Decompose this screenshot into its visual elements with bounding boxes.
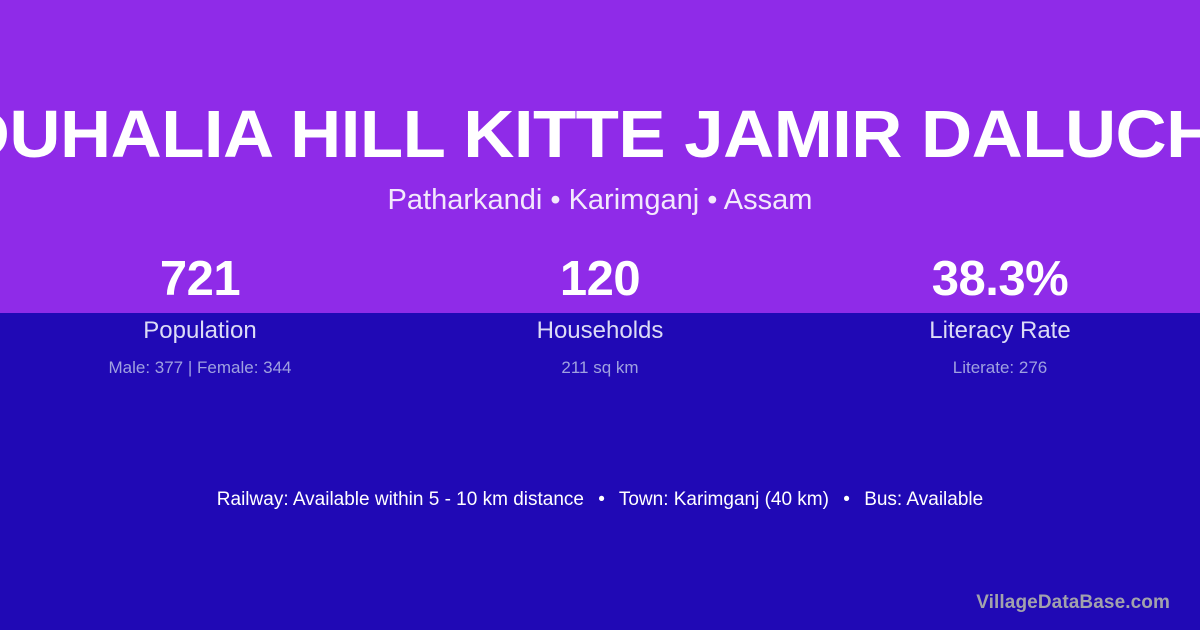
stat-population-sub: Male: 377 | Female: 344 xyxy=(0,356,400,380)
location-breadcrumb: Patharkandi • Karimganj • Assam xyxy=(0,181,1200,219)
infra-railway: Railway: Available within 5 - 10 km dist… xyxy=(217,489,584,510)
infra-separator-1: • xyxy=(589,489,614,510)
site-brand: VillageDataBase.com xyxy=(976,589,1170,616)
village-info-card: DUHALIA HILL KITTE JAMIR DALUCHERRA Path… xyxy=(0,0,1200,630)
infra-separator-2: • xyxy=(834,489,859,510)
stat-literacy-label: Literacy Rate xyxy=(800,314,1200,347)
stat-households: 120 Households 211 sq km xyxy=(400,246,800,380)
infra-town: Town: Karimganj (40 km) xyxy=(619,489,829,510)
infra-bus: Bus: Available xyxy=(864,489,983,510)
stat-households-sub: 211 sq km xyxy=(400,356,800,380)
stat-population-value: 721 xyxy=(0,246,400,313)
stat-households-value: 120 xyxy=(400,246,800,313)
stat-literacy: 38.3% Literacy Rate Literate: 276 xyxy=(800,246,1200,380)
infrastructure-line: Railway: Available within 5 - 10 km dist… xyxy=(0,486,1200,514)
stat-literacy-sub: Literate: 276 xyxy=(800,356,1200,380)
stat-population: 721 Population Male: 377 | Female: 344 xyxy=(0,246,400,380)
stat-households-label: Households xyxy=(400,314,800,347)
stat-literacy-value: 38.3% xyxy=(800,246,1200,313)
stats-row: 721 Population Male: 377 | Female: 344 1… xyxy=(0,246,1200,380)
stat-population-label: Population xyxy=(0,314,400,347)
